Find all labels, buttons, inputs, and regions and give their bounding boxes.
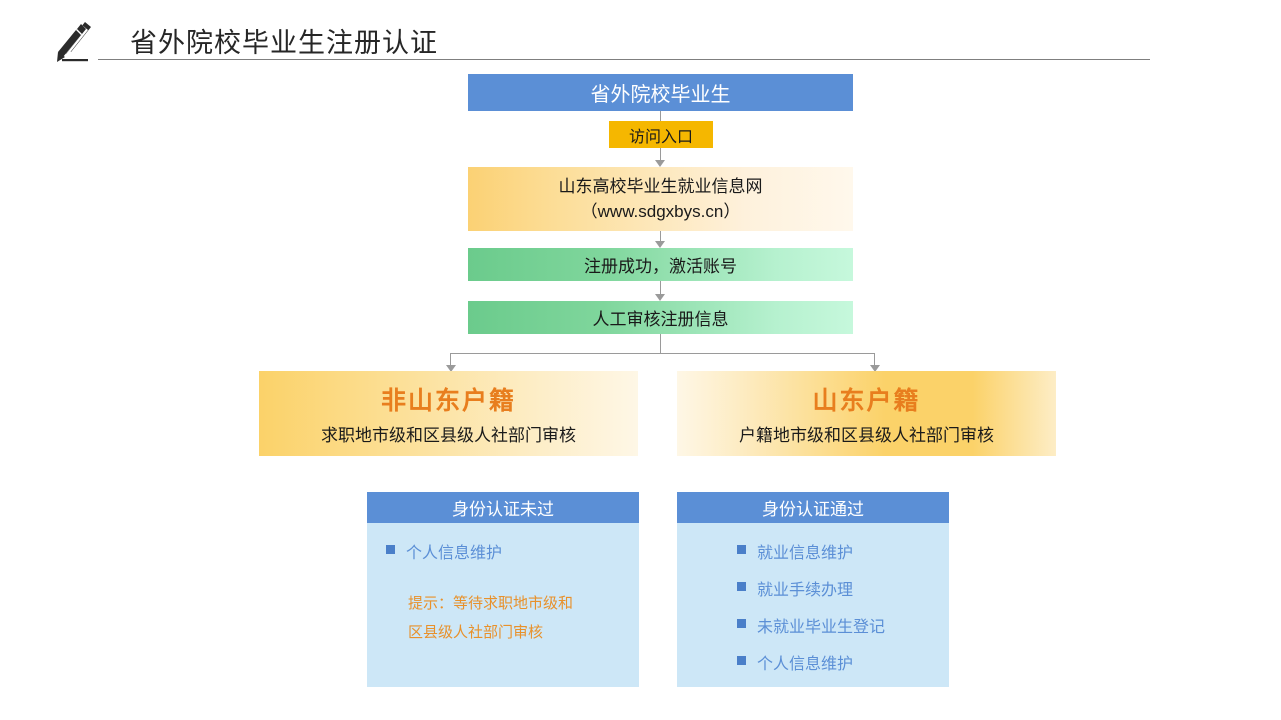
branch-subtitle-non-shandong: 求职地市级和区县级人社部门审核 (321, 421, 576, 446)
page-header: 省外院校毕业生注册认证 (0, 0, 1281, 68)
list-item[interactable]: 就业信息维护 (677, 539, 949, 563)
list-item[interactable]: 就业手续办理 (677, 576, 949, 600)
flow-site-box: 山东高校毕业生就业信息网 （www.sdgxbys.cn） (468, 167, 853, 231)
connector-site-to-register (655, 231, 666, 248)
branch-connector (448, 334, 878, 372)
hint-line-1: 提示：等待求职地市级和 (408, 589, 627, 618)
flow-start-box: 省外院校毕业生 (468, 74, 853, 111)
entry-tag: 访问入口 (609, 121, 713, 148)
panel-auth-passed-body: 就业信息维护 就业手续办理 未就业毕业生登记 个人信息维护 (677, 523, 949, 697)
list-item-label: 个人信息维护 (406, 539, 502, 563)
branch-title-non-shandong: 非山东户籍 (381, 381, 516, 417)
list-item[interactable]: 未就业毕业生登记 (677, 613, 949, 637)
branch-title-shandong: 山东户籍 (812, 381, 920, 417)
panel-auth-failed-header-label: 身份认证未过 (452, 495, 554, 520)
bullet-square-icon (737, 582, 746, 591)
bullet-square-icon (737, 545, 746, 554)
panel-auth-failed-header: 身份认证未过 (367, 492, 639, 523)
bullet-square-icon (386, 545, 395, 554)
panel-auth-failed-hint: 提示：等待求职地市级和 区县级人社部门审核 (367, 589, 639, 647)
hint-line-2: 区县级人社部门审核 (408, 618, 627, 647)
panel-auth-passed: 身份认证通过 就业信息维护 就业手续办理 未就业毕业生登记 个人信息维护 (677, 492, 949, 687)
pencil-icon (55, 20, 97, 64)
list-item-label: 未就业毕业生登记 (757, 613, 885, 637)
page-title: 省外院校毕业生注册认证 (130, 21, 438, 60)
bullet-square-icon (737, 619, 746, 628)
list-item-label: 个人信息维护 (757, 650, 853, 674)
panel-auth-failed: 身份认证未过 个人信息维护 提示：等待求职地市级和 区县级人社部门审核 (367, 492, 639, 687)
panel-auth-passed-header-label: 身份认证通过 (762, 495, 864, 520)
panel-auth-failed-body: 个人信息维护 提示：等待求职地市级和 区县级人社部门审核 (367, 523, 639, 657)
flow-register-box: 注册成功，激活账号 (468, 248, 853, 281)
flow-review-label: 人工审核注册信息 (593, 305, 729, 330)
connector-tag-to-site (655, 148, 666, 167)
flow-register-label: 注册成功，激活账号 (584, 252, 737, 277)
header-divider (98, 59, 1150, 60)
list-item-label: 就业手续办理 (757, 576, 853, 600)
connector-register-to-review (655, 281, 666, 301)
list-item[interactable]: 个人信息维护 (677, 650, 949, 674)
branch-subtitle-shandong: 户籍地市级和区县级人社部门审核 (739, 421, 994, 446)
branch-box-shandong: 山东户籍 户籍地市级和区县级人社部门审核 (677, 371, 1056, 456)
panel-auth-passed-header: 身份认证通过 (677, 492, 949, 523)
flow-review-box: 人工审核注册信息 (468, 301, 853, 334)
bullet-square-icon (737, 656, 746, 665)
list-item[interactable]: 个人信息维护 (367, 539, 639, 563)
entry-tag-label: 访问入口 (629, 123, 693, 147)
branch-box-non-shandong: 非山东户籍 求职地市级和区县级人社部门审核 (259, 371, 638, 456)
list-item-label: 就业信息维护 (757, 539, 853, 563)
flow-start-label: 省外院校毕业生 (591, 78, 731, 107)
flow-site-line1: 山东高校毕业生就业信息网 (559, 174, 763, 199)
flow-site-line2: （www.sdgxbys.cn） (581, 199, 741, 224)
